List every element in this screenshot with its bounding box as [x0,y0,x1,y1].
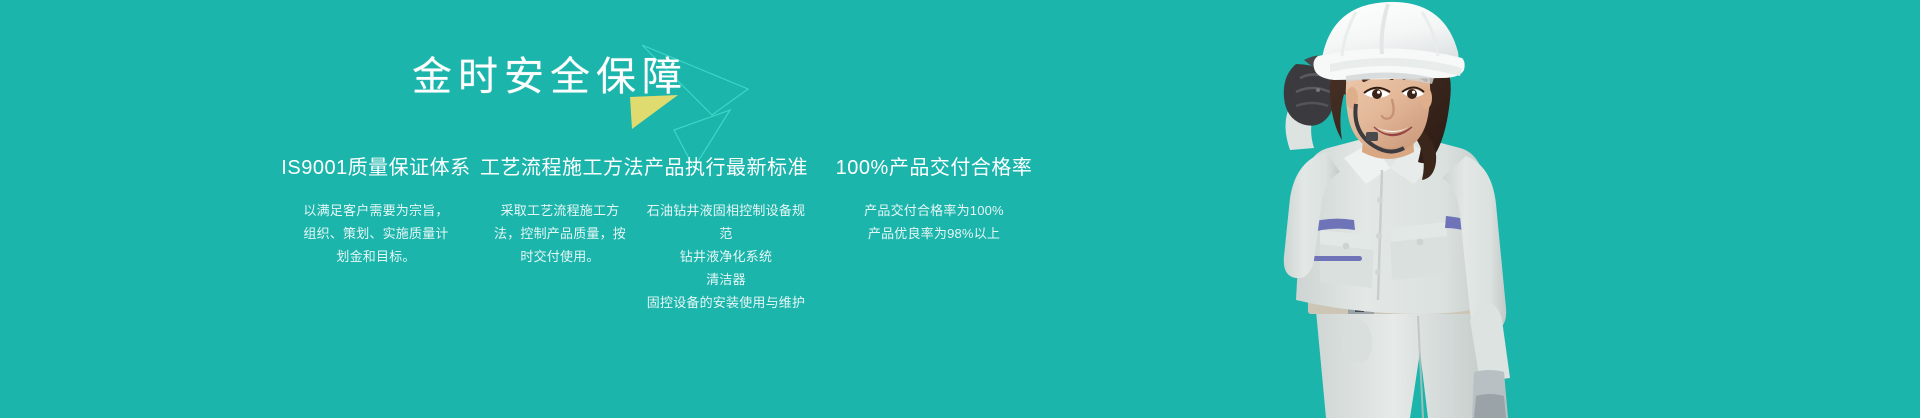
page-title: 金时安全保障 [412,52,688,102]
feature-column-1: IS9001质量保证体系 以满足客户需要为宗旨，组织、策划、实施质量计划金和目标… [272,155,480,268]
feature-column-2: 工艺流程施工方法 采取工艺流程施工方法，控制产品质量，按时交付使用。 [480,155,640,268]
feature-body-4: 产品交付合格率为100%产品优良率为98%以上 [834,199,1034,245]
feature-body-2: 采取工艺流程施工方法，控制产品质量，按时交付使用。 [480,199,640,268]
feature-heading-3: 产品执行最新标准 [640,155,812,181]
feature-heading-1: IS9001质量保证体系 [272,155,480,181]
feature-body-3: 石油钻井液固相控制设备规范钻井液净化系统清洁器固控设备的安装使用与维护 [640,199,812,314]
feature-body-1: 以满足客户需要为宗旨，组织、策划、实施质量计划金和目标。 [272,199,480,268]
feature-heading-4: 100%产品交付合格率 [834,155,1034,181]
feature-column-4: 100%产品交付合格率 产品交付合格率为100%产品优良率为98%以上 [834,155,1034,245]
feature-columns: IS9001质量保证体系 以满足客户需要为宗旨，组织、策划、实施质量计划金和目标… [272,155,1104,355]
safety-banner: 金时安全保障 IS9001质量保证体系 以满足客户需要为宗旨，组织、策划、实施质… [0,0,1920,418]
banner-title-wrap: 金时安全保障 [0,52,1100,102]
feature-column-3: 产品执行最新标准 石油钻井液固相控制设备规范钻井液净化系统清洁器固控设备的安装使… [640,155,812,314]
feature-heading-2: 工艺流程施工方法 [480,155,640,181]
worker-figure [1260,0,1590,418]
